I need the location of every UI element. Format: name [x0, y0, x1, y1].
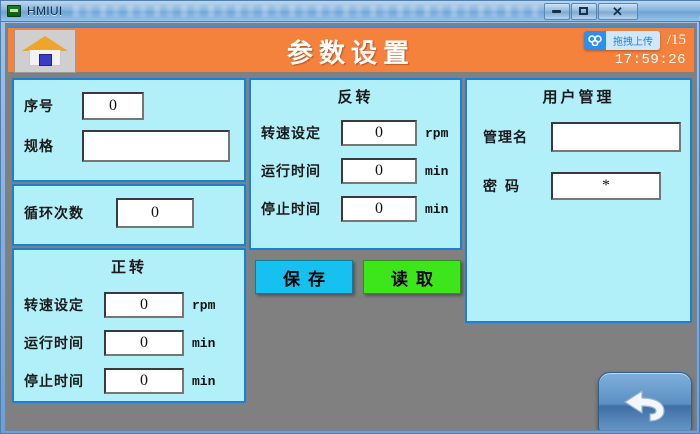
home-icon	[22, 36, 68, 66]
reverse-speed-unit: rpm	[425, 126, 448, 141]
forward-runtime-input[interactable]: 0	[104, 330, 184, 356]
cycle-label: 循环次数	[24, 203, 110, 223]
field-row-serial: 序号 0	[24, 92, 144, 120]
forward-stoptime-input[interactable]: 0	[104, 368, 184, 394]
serial-label: 序号	[24, 96, 76, 116]
forward-title: 正转	[14, 256, 244, 277]
panel-user-management: 用户管理 管理名 密码 *	[465, 78, 692, 323]
panel-reverse-rotation: 反转 转速设定 0 rpm 运行时间 0 min 停止时间 0 min	[249, 78, 462, 250]
app-icon	[7, 5, 21, 17]
field-row-password: 密码 *	[483, 172, 661, 200]
baidu-netdisk-icon	[584, 31, 606, 50]
close-button[interactable]: ✕	[598, 3, 638, 20]
close-icon: ✕	[612, 5, 623, 18]
field-row-reverse-speed: 转速设定 0 rpm	[261, 120, 448, 146]
app-client-area: 参数设置 /15 17:59:26 拖拽上传	[5, 23, 697, 431]
field-row-reverse-runtime: 运行时间 0 min	[261, 158, 448, 184]
reverse-stoptime-input[interactable]: 0	[341, 196, 417, 222]
field-row-forward-stoptime: 停止时间 0 min	[24, 368, 215, 394]
clock-label: 17:59:26	[615, 52, 686, 68]
cycle-input[interactable]: 0	[116, 198, 194, 228]
reverse-speed-label: 转速设定	[261, 123, 337, 143]
maximize-button[interactable]	[571, 3, 597, 20]
forward-stoptime-unit: min	[192, 374, 215, 389]
os-window: HMIUI ✕ 参数设置 /15	[0, 0, 700, 434]
field-row-reverse-stoptime: 停止时间 0 min	[261, 196, 448, 222]
forward-runtime-label: 运行时间	[24, 333, 100, 353]
serial-input[interactable]: 0	[82, 92, 144, 120]
reverse-runtime-label: 运行时间	[261, 161, 337, 181]
home-button[interactable]	[14, 29, 76, 73]
upload-widget[interactable]: 拖拽上传	[584, 31, 660, 50]
save-button[interactable]: 保存	[255, 260, 353, 294]
field-row-spec: 规格	[24, 130, 230, 162]
field-row-forward-speed: 转速设定 0 rpm	[24, 292, 215, 318]
reverse-stoptime-unit: min	[425, 202, 448, 217]
forward-stoptime-label: 停止时间	[24, 371, 100, 391]
panel-forward-rotation: 正转 转速设定 0 rpm 运行时间 0 min 停止时间 0 min	[12, 248, 246, 403]
field-row-cycle: 循环次数 0	[24, 198, 194, 228]
admin-name-label: 管理名	[483, 127, 545, 147]
minimize-button[interactable]	[544, 3, 570, 20]
forward-speed-label: 转速设定	[24, 295, 100, 315]
page-count-label: /15	[667, 32, 686, 49]
forward-speed-unit: rpm	[192, 298, 215, 313]
field-row-forward-runtime: 运行时间 0 min	[24, 330, 215, 356]
spec-label: 规格	[24, 136, 76, 156]
panel-identification: 序号 0 规格	[12, 78, 246, 182]
app-header-bar: 参数设置 /15 17:59:26 拖拽上传	[8, 26, 694, 72]
maximize-icon	[579, 7, 588, 15]
spec-input[interactable]	[82, 130, 230, 162]
forward-speed-input[interactable]: 0	[104, 292, 184, 318]
user-management-title: 用户管理	[467, 86, 690, 107]
reverse-stoptime-label: 停止时间	[261, 199, 337, 219]
window-subtitle-blurred	[73, 5, 543, 17]
window-controls: ✕	[543, 3, 638, 20]
panel-cycle-count: 循环次数 0	[12, 184, 246, 246]
read-button[interactable]: 读取	[363, 260, 461, 294]
field-row-admin-name: 管理名	[483, 122, 681, 152]
minimize-icon	[552, 10, 561, 13]
reverse-runtime-unit: min	[425, 164, 448, 179]
admin-name-input[interactable]	[551, 122, 681, 152]
forward-runtime-unit: min	[192, 336, 215, 351]
back-arrow-icon	[616, 385, 674, 425]
password-label: 密码	[483, 176, 545, 196]
reverse-runtime-input[interactable]: 0	[341, 158, 417, 184]
reverse-speed-input[interactable]: 0	[341, 120, 417, 146]
reverse-title: 反转	[251, 86, 460, 107]
window-title: HMIUI	[27, 4, 63, 18]
password-input[interactable]: *	[551, 172, 661, 200]
back-button[interactable]	[598, 372, 692, 431]
window-titlebar[interactable]: HMIUI ✕	[1, 1, 700, 22]
upload-label: 拖拽上传	[606, 31, 660, 50]
